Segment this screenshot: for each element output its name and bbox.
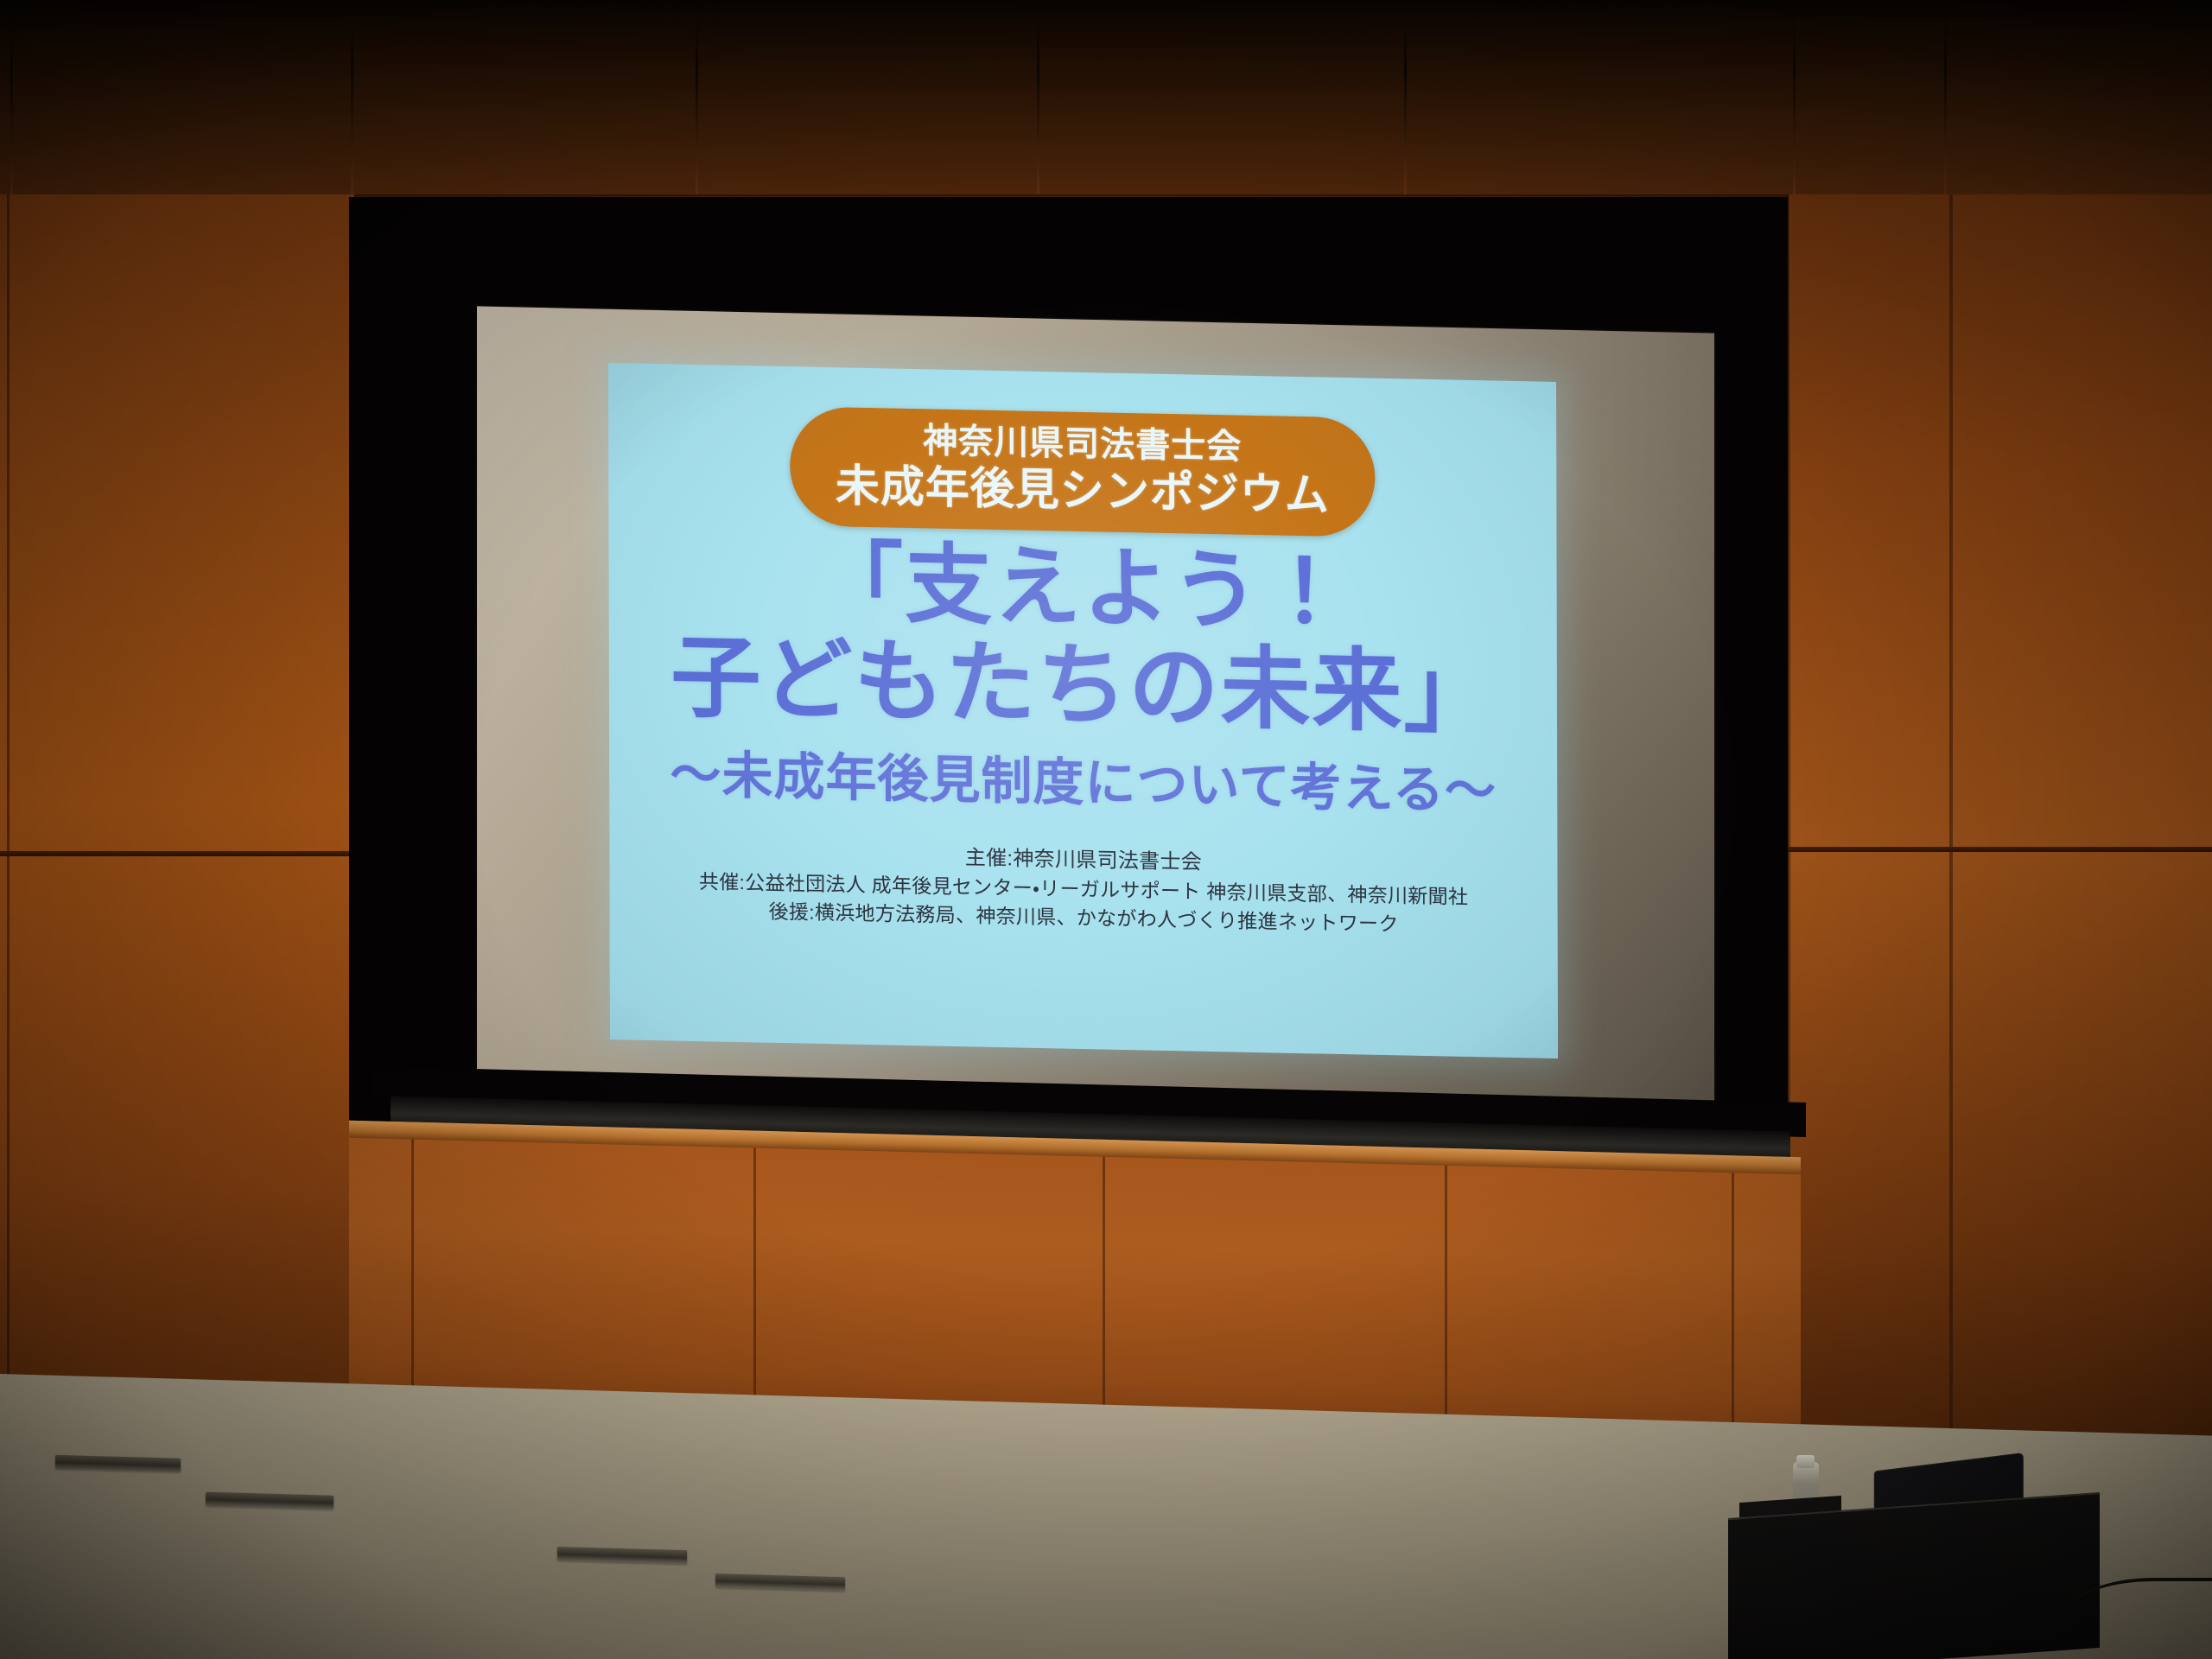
slide-banner: 神奈川県司法書士会 未成年後見シンポジウム	[791, 406, 1375, 537]
left-pillar-seam	[0, 851, 356, 856]
auditorium-room: 神奈川県司法書士会 未成年後見シンポジウム 「支えよう！ 子どもたちの未来」 ～…	[0, 0, 2212, 1659]
upper-wall-panel	[0, 0, 2212, 200]
wall-seam	[1037, 0, 1039, 200]
wall-seam	[1404, 0, 1407, 200]
floor-vent	[55, 1455, 181, 1472]
banner-event-name: 未成年後見シンポジウム	[836, 461, 1330, 520]
wall-seam	[696, 0, 698, 200]
right-wood-pillar	[1787, 194, 2212, 1516]
slide-subtitle: ～未成年後見制度について考える～	[670, 733, 1497, 823]
water-bottle-cap	[1796, 1455, 1815, 1468]
projected-slide: 神奈川県司法書士会 未成年後見シンポジウム 「支えよう！ 子どもたちの未来」 ～…	[608, 363, 1558, 1058]
floor-vent	[557, 1547, 687, 1564]
title-line-1: 「支えよう！	[671, 535, 1495, 642]
wall-seam	[351, 0, 353, 200]
right-pillar-seam	[1949, 194, 1953, 1516]
wall-seam	[1793, 0, 1796, 200]
slide-credits: 主催:神奈川県司法書士会 共催:公益社団法人 成年後見センター・リーガルサポート…	[699, 838, 1469, 939]
slide-title: 「支えよう！ 子どもたちの未来」	[671, 535, 1496, 741]
title-line-2: 子どもたちの未来」	[671, 631, 1495, 741]
wall-seam	[10, 0, 13, 200]
left-wood-pillar	[0, 194, 356, 1469]
lectern	[1728, 1492, 2100, 1659]
right-pillar-split	[1787, 847, 2212, 852]
floor-vent	[206, 1492, 334, 1510]
floor-vent	[715, 1573, 845, 1591]
wall-seam	[1944, 0, 1947, 200]
